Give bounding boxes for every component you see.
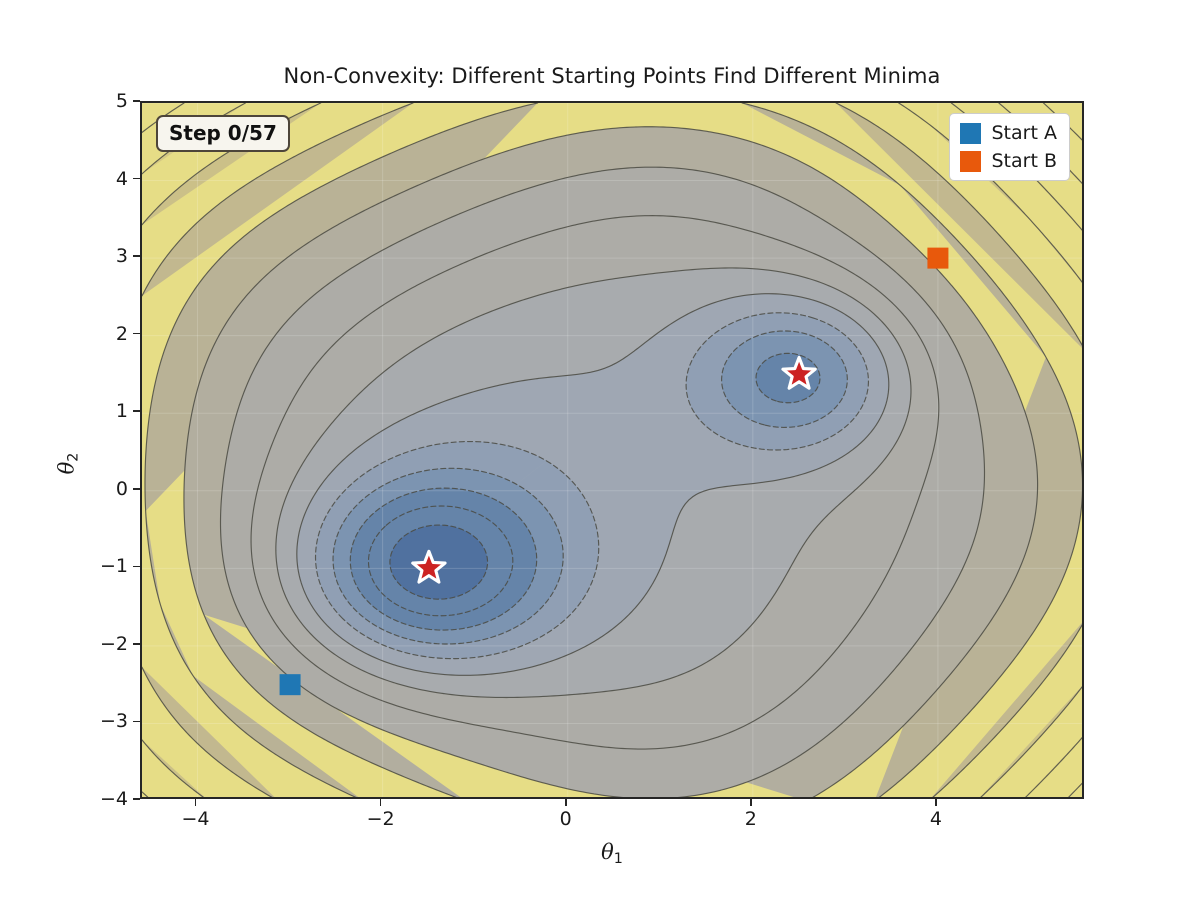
legend-label-start-b: Start B [992,150,1058,172]
x-tickmark [750,799,752,806]
y-tickmark [133,410,140,412]
y-tickmark [133,643,140,645]
start-marker-b [927,248,948,269]
y-tickmark [133,333,140,335]
plot-axes: Step 0/57 Start A Start B [140,101,1084,799]
legend-label-start-a: Start A [992,122,1057,144]
x-tickmark [935,799,937,806]
y-tickmark [133,178,140,180]
legend-item-start-a: Start A [960,122,1058,144]
legend: Start A Start B [949,113,1071,181]
y-tickmark [133,100,140,102]
legend-item-start-b: Start B [960,150,1058,172]
y-tickmark [133,488,140,490]
figure-canvas: Non-Convexity: Different Starting Points… [0,0,1200,900]
x-tick-label: −2 [367,808,395,830]
y-tickmark [133,721,140,723]
y-tick-label: 5 [116,90,128,112]
x-tick-label: −4 [182,808,210,830]
y-tick-label: −3 [100,710,128,732]
y-tick-label: 1 [116,400,128,422]
y-tick-label: 4 [116,168,128,190]
x-tick-label: 4 [930,808,942,830]
legend-swatch-start-b [960,151,981,172]
page-title: Non-Convexity: Different Starting Points… [140,64,1084,88]
contour-plot [142,103,1084,799]
y-tick-label: 2 [116,323,128,345]
y-tick-label: 0 [116,478,128,500]
x-tickmark [380,799,382,806]
status-badge: Step 0/57 [156,115,290,152]
x-tick-label: 0 [560,808,572,830]
y-tickmark [133,798,140,800]
y-tick-label: 3 [116,245,128,267]
x-axis-label: θ1 [140,840,1084,867]
start-marker-a [280,674,301,695]
x-tickmark [565,799,567,806]
y-tickmark [133,255,140,257]
y-tick-label: −2 [100,633,128,655]
y-tick-label: −1 [100,555,128,577]
x-tick-label: 2 [745,808,757,830]
x-tickmark [195,799,197,806]
y-tick-label: −4 [100,788,128,810]
legend-swatch-start-a [960,123,981,144]
y-tickmark [133,566,140,568]
y-axis-label: θ2 [55,383,82,543]
